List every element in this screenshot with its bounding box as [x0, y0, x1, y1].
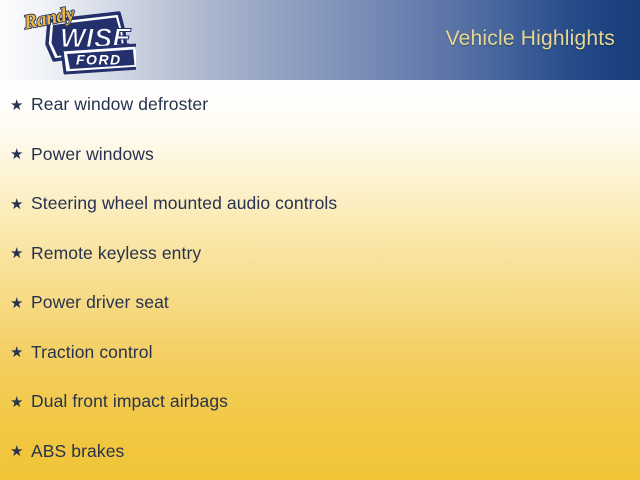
highlight-item: ★ABS brakes	[0, 427, 640, 477]
star-bullet-icon: ★	[10, 394, 31, 410]
highlight-item-label: Traction control	[31, 342, 640, 363]
highlight-item-label: Dual front impact airbags	[31, 391, 640, 412]
star-bullet-icon: ★	[10, 196, 31, 212]
page-header: WISE FORD Randy Vehicle Highlights	[0, 0, 640, 80]
ford-wordmark: FORD	[76, 52, 122, 68]
star-bullet-icon: ★	[10, 344, 31, 360]
highlight-item-label: Power driver seat	[31, 292, 640, 313]
highlight-item: ★Traction control	[0, 328, 640, 378]
highlight-item-label: Power windows	[31, 144, 640, 165]
highlights-list: ★Rear window defroster★Power windows★Ste…	[0, 80, 640, 476]
highlight-item: ★Power driver seat	[0, 278, 640, 328]
vehicle-highlights-page: WISE FORD Randy Vehicle Highlights ★Rear…	[0, 0, 640, 480]
highlight-item-label: Rear window defroster	[31, 94, 640, 115]
star-bullet-icon: ★	[10, 295, 31, 311]
highlight-item: ★Power windows	[0, 130, 640, 180]
randy-wise-ford-logo: WISE FORD Randy	[6, 2, 136, 80]
star-bullet-icon: ★	[10, 245, 31, 261]
highlights-panel: ★Rear window defroster★Power windows★Ste…	[0, 80, 640, 480]
highlight-item-label: ABS brakes	[31, 441, 640, 462]
highlight-item-label: Steering wheel mounted audio controls	[31, 193, 640, 214]
star-bullet-icon: ★	[10, 146, 31, 162]
highlight-item: ★Rear window defroster	[0, 80, 640, 130]
highlight-item: ★Steering wheel mounted audio controls	[0, 179, 640, 229]
star-bullet-icon: ★	[10, 97, 31, 113]
highlight-item: ★Dual front impact airbags	[0, 377, 640, 427]
star-bullet-icon: ★	[10, 443, 31, 459]
highlight-item: ★Remote keyless entry	[0, 229, 640, 279]
highlight-item-label: Remote keyless entry	[31, 243, 640, 264]
page-title: Vehicle Highlights	[446, 27, 615, 51]
